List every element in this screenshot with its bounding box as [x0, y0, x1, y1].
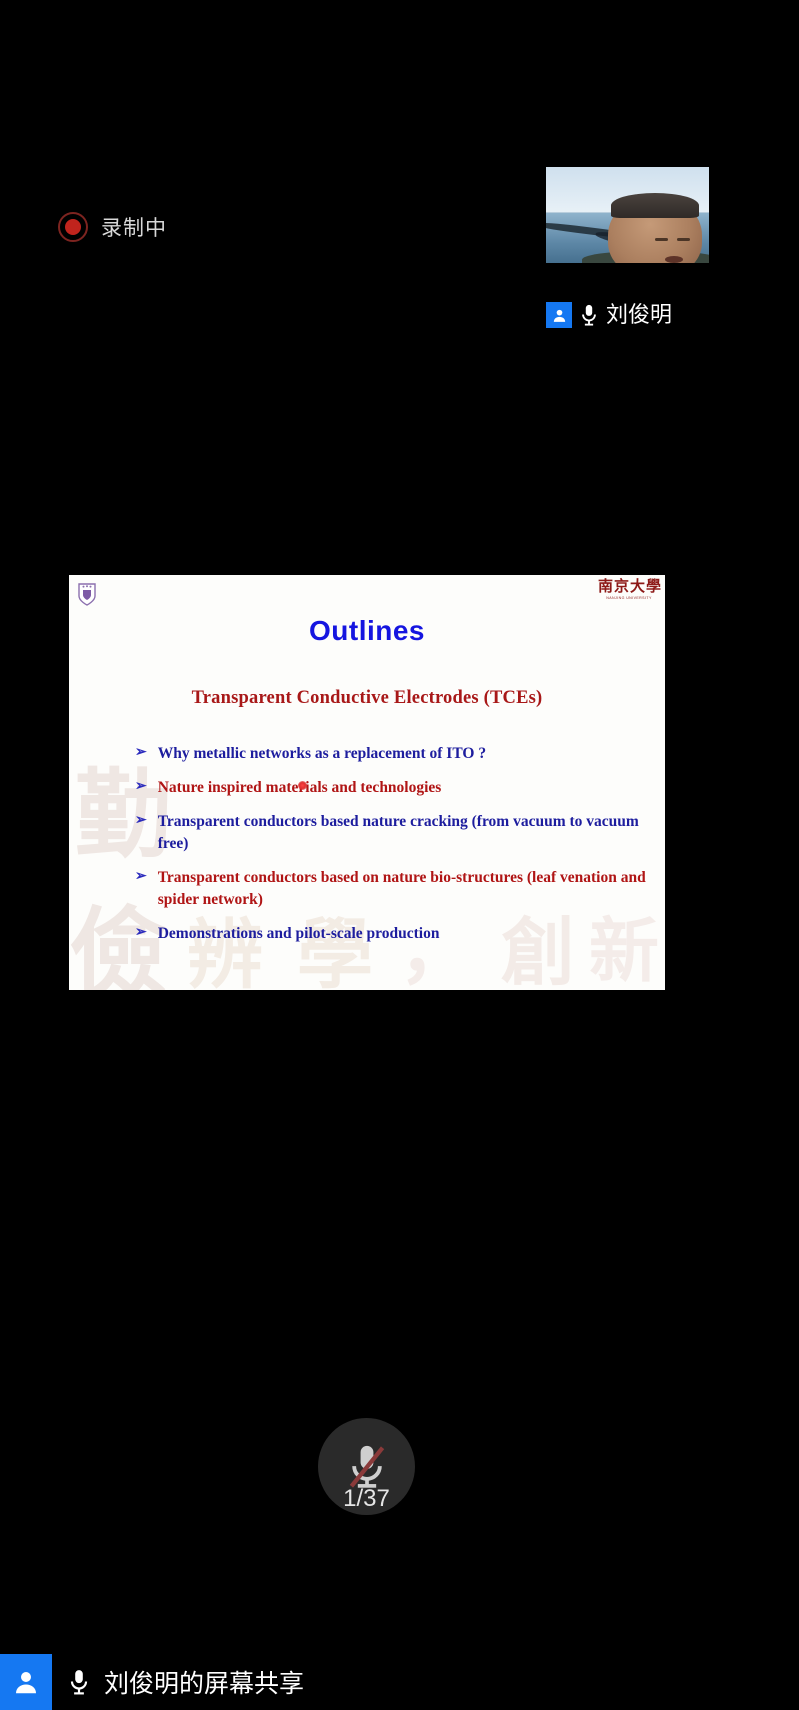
- video-person-mouth: [665, 256, 683, 263]
- slide-title: Outlines: [69, 615, 665, 647]
- bullet-text: Transparent conductors based nature crac…: [158, 811, 651, 855]
- bullet-text: Demonstrations and pilot-scale productio…: [158, 923, 440, 945]
- slide-subtitle: Transparent Conductive Electrodes (TCEs): [69, 688, 665, 709]
- participant-name: 刘俊明: [606, 304, 672, 326]
- slide-bullet-item: ➢ Nature inspired materials and technolo…: [135, 777, 651, 799]
- recording-label: 录制中: [101, 212, 167, 242]
- bullet-arrow-icon: ➢: [135, 777, 147, 797]
- shared-slide[interactable]: 勤 儉 辨 學 ， 創 新 南京大學 NANJING UNIVERSITY Ou…: [69, 575, 665, 990]
- nju-logo-chinese: 南京大學: [598, 580, 660, 595]
- video-person-eye-left: [655, 238, 668, 241]
- slide-bullet-list: ➢ Why metallic networks as a replacement…: [135, 743, 651, 957]
- video-person-eye-right: [677, 238, 690, 241]
- screen-share-label: 刘俊明的屏幕共享: [104, 1664, 304, 1700]
- person-icon: [0, 1654, 52, 1710]
- microphone-muted-icon: [345, 1442, 389, 1492]
- bullet-arrow-icon: ➢: [135, 923, 147, 943]
- slide-bullet-item: ➢ Why metallic networks as a replacement…: [135, 743, 651, 765]
- nju-logo-english: NANJING UNIVERSITY: [598, 597, 660, 601]
- bullet-arrow-icon: ➢: [135, 867, 147, 887]
- video-person-hair: [611, 193, 699, 218]
- participant-name-strip: 刘俊明: [546, 302, 672, 328]
- university-shield-icon: [77, 582, 97, 606]
- nanjing-university-logo: 南京大學 NANJING UNIVERSITY: [598, 580, 660, 601]
- bullet-text: Why metallic networks as a replacement o…: [158, 743, 486, 765]
- bullet-arrow-icon: ➢: [135, 743, 147, 763]
- recording-indicator: 录制中: [58, 212, 167, 242]
- slide-bullet-item: ➢ Transparent conductors based on nature…: [135, 867, 651, 911]
- microphone-icon: [66, 1666, 92, 1698]
- bullet-text: Transparent conductors based on nature b…: [158, 867, 651, 911]
- slide-bullet-item: ➢ Demonstrations and pilot-scale product…: [135, 923, 651, 945]
- person-icon: [546, 302, 572, 328]
- microphone-icon: [578, 302, 600, 328]
- self-video-tile[interactable]: [546, 167, 709, 263]
- laser-pointer-dot: [298, 781, 307, 790]
- page-indicator: 1/37: [318, 1485, 415, 1513]
- record-dot-icon: [58, 212, 88, 242]
- bullet-arrow-icon: ➢: [135, 811, 147, 831]
- screen-share-bar: 刘俊明的屏幕共享: [0, 1654, 799, 1710]
- slide-bullet-item: ➢ Transparent conductors based nature cr…: [135, 811, 651, 855]
